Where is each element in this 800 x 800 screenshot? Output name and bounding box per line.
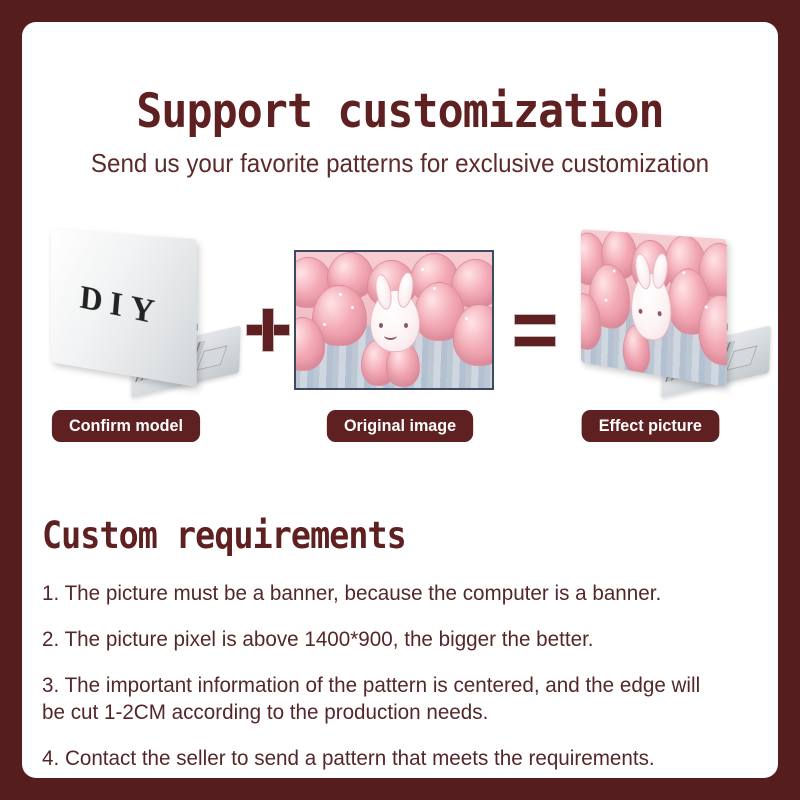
caption-effect-picture: Effect picture <box>582 410 719 442</box>
stage-original-image <box>294 250 494 390</box>
stage-confirm-model: DIY <box>40 230 240 410</box>
requirement-item: 3. The important information of the patt… <box>42 672 727 726</box>
requirement-item: 1. The picture must be a banner, because… <box>42 580 727 607</box>
plus-icon <box>246 308 290 352</box>
page-subtitle: Send us your favorite patterns for exclu… <box>48 148 751 179</box>
laptop-skin-artwork <box>581 229 727 387</box>
lid-diy-label: DIY <box>51 274 197 342</box>
requirements-list: 1. The picture must be a banner, because… <box>42 580 756 778</box>
caption-confirm-model: Confirm model <box>52 410 200 442</box>
caption-original-image: Original image <box>327 410 473 442</box>
requirement-item: 2. The picture pixel is above 1400*900, … <box>42 626 727 653</box>
watercolor-tulips-bunny-icon <box>296 252 492 388</box>
artwork-frame <box>294 250 494 390</box>
requirement-item: 4. Contact the seller to send a pattern … <box>42 745 727 772</box>
stage-effect-picture <box>570 230 770 410</box>
laptop-lid: DIY <box>51 229 197 387</box>
laptop-lid <box>581 229 727 387</box>
requirements-title: Custom requirements <box>42 514 406 557</box>
laptop-back-icon: DIY <box>40 230 240 410</box>
equals-icon <box>514 314 556 348</box>
formula-row: DIY <box>22 222 778 422</box>
card-inner-surface: Support customization Send us your favor… <box>22 22 778 778</box>
promo-card: Support customization Send us your favor… <box>0 0 800 800</box>
laptop-skinned-icon <box>570 230 770 410</box>
page-title: Support customization <box>52 84 748 139</box>
